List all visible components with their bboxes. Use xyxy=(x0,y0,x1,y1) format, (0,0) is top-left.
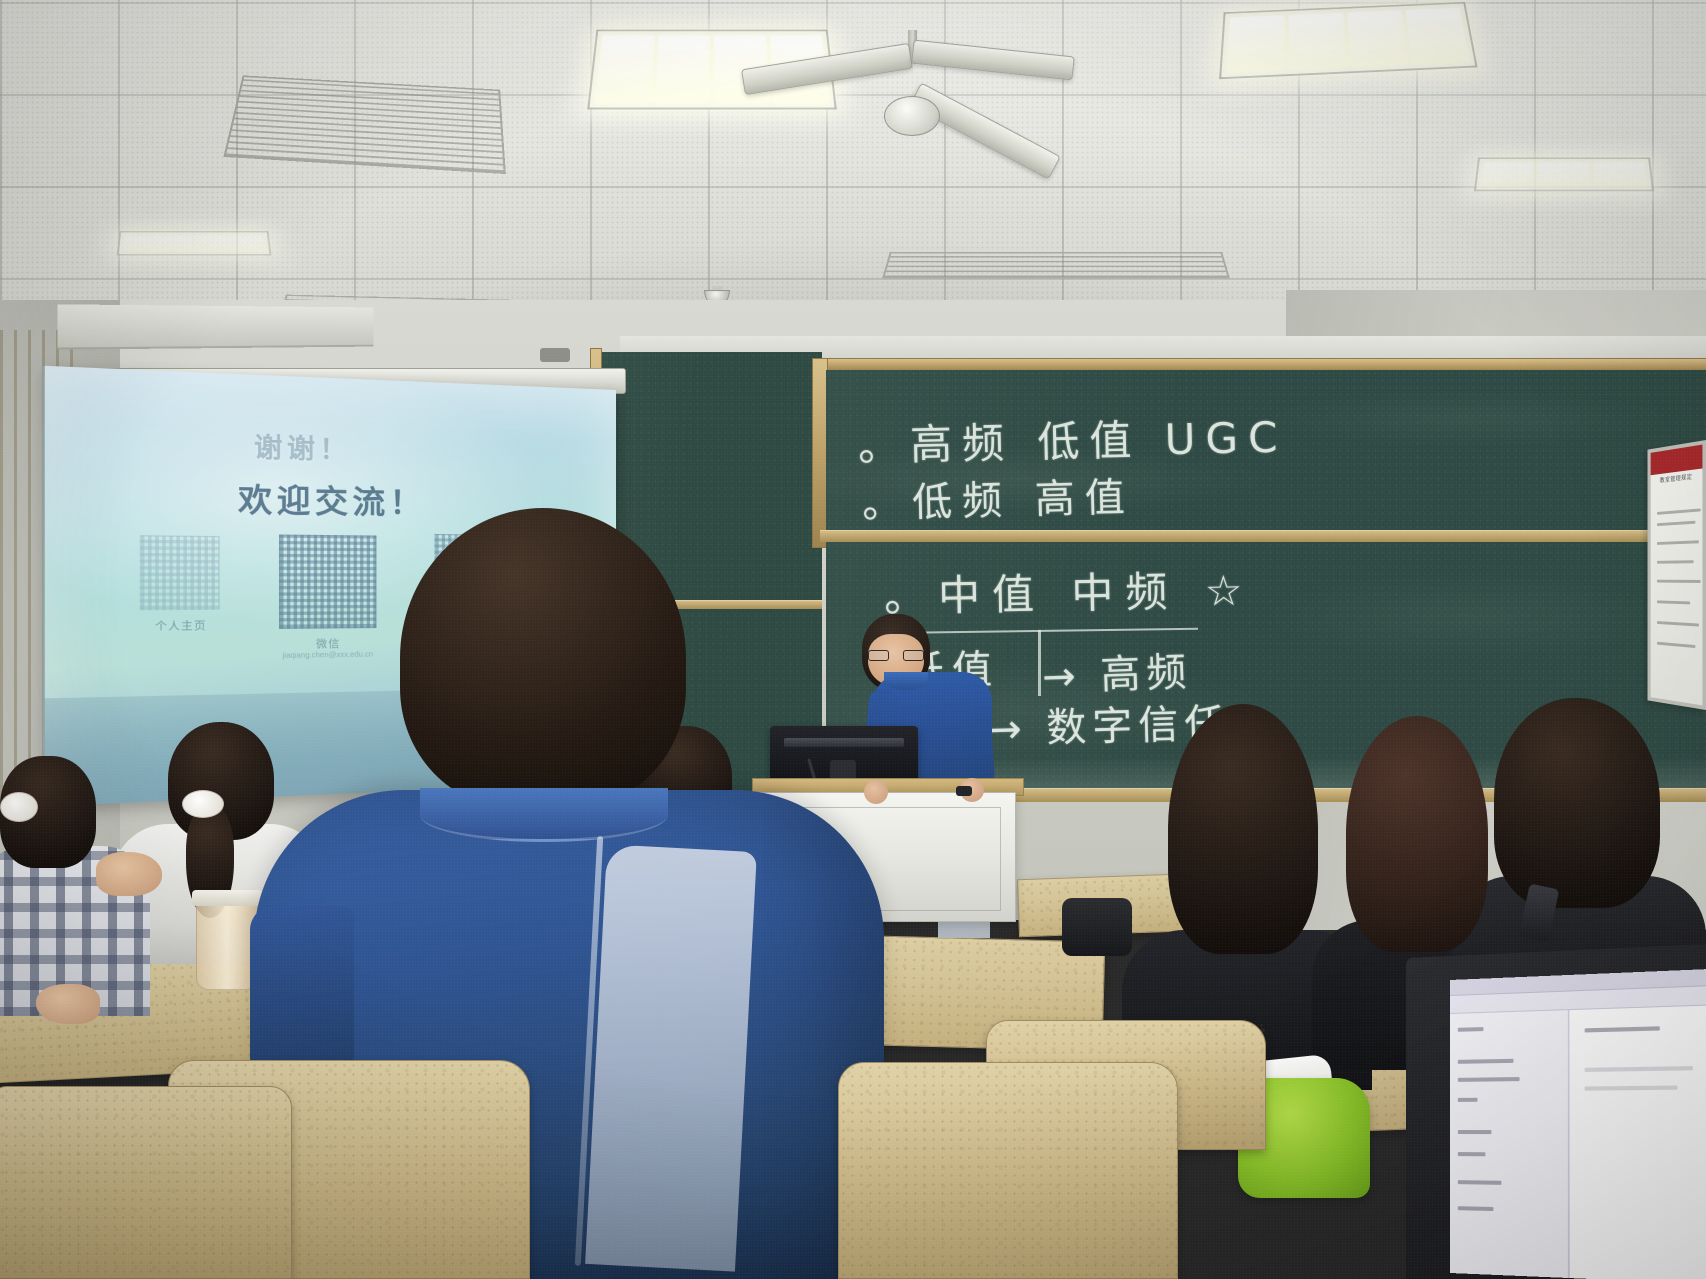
qr-code xyxy=(140,535,220,610)
chalk-line-1: 。高频 低值 UGC xyxy=(857,404,1288,474)
chalkboard-upper[interactable]: 。高频 低值 UGC 。低频 高值 xyxy=(826,370,1706,532)
student-long-hair-right-hair xyxy=(1168,704,1318,954)
poster-text-line xyxy=(1657,560,1694,563)
chalk-line-2: 。低频 高值 xyxy=(861,465,1135,530)
light-panel xyxy=(1474,158,1654,192)
wall-poster[interactable]: 教室管理规定 xyxy=(1648,440,1706,710)
poster-text-line xyxy=(1657,580,1701,583)
student-foreground-collar xyxy=(420,788,668,842)
student-right-rear-hair xyxy=(1346,716,1488,952)
chair-back xyxy=(0,1086,292,1279)
light-panel xyxy=(116,231,271,255)
laptop-sidebar xyxy=(1450,1010,1569,1278)
slide-subtitle: 欢迎交流！ xyxy=(238,474,426,524)
scrunchie xyxy=(182,790,224,818)
polo-sleeve xyxy=(250,906,354,1076)
poster-text-line xyxy=(1657,508,1701,514)
poster-text-line xyxy=(1657,600,1690,604)
poster-text-line xyxy=(1657,521,1695,526)
qr-caption: 个人主页 xyxy=(130,616,231,633)
student-hand xyxy=(96,852,162,896)
projector-lens-icon xyxy=(540,348,570,362)
poster-text-line xyxy=(1657,642,1695,648)
scrunchie xyxy=(0,792,38,822)
office-chair xyxy=(1062,898,1132,956)
instructor-hand xyxy=(864,780,888,804)
classroom-photo: 谢谢！ 欢迎交流！ 个人主页 微信 jiaqiang.chen@xxx.edu.… xyxy=(0,0,1706,1279)
student-hand xyxy=(36,984,100,1024)
glasses-icon xyxy=(868,650,924,661)
instructor-collar xyxy=(884,672,928,690)
chalk-line-3: 。中值 中频 ☆ xyxy=(883,557,1254,624)
light-panel xyxy=(1219,2,1478,79)
qr-caption: 微信 xyxy=(279,634,376,651)
student-far-right-hair xyxy=(1494,698,1660,908)
polo-panel xyxy=(585,844,757,1271)
chalk-bracket-stem xyxy=(1038,630,1041,696)
air-vent xyxy=(223,75,505,174)
monitor-vent xyxy=(784,738,904,747)
cup-lid xyxy=(192,890,262,906)
wall-band xyxy=(58,304,374,349)
poster-text-line xyxy=(1657,621,1699,626)
poster-text-line xyxy=(1657,540,1699,545)
qr-code xyxy=(279,535,376,629)
air-vent xyxy=(882,252,1230,278)
laptop[interactable] xyxy=(1406,958,1706,1279)
laptop-screen[interactable] xyxy=(1450,969,1706,1279)
monitor-mount xyxy=(830,760,856,780)
student-foreground-hair xyxy=(400,508,686,808)
wristwatch xyxy=(956,786,972,796)
fan-hub xyxy=(884,96,940,136)
drink-cup[interactable] xyxy=(196,898,258,990)
chalkboard-divider-rail xyxy=(820,530,1706,542)
chair-back xyxy=(838,1062,1178,1279)
laptop-document xyxy=(1570,1005,1706,1279)
slide-title: 谢谢！ xyxy=(254,426,351,467)
